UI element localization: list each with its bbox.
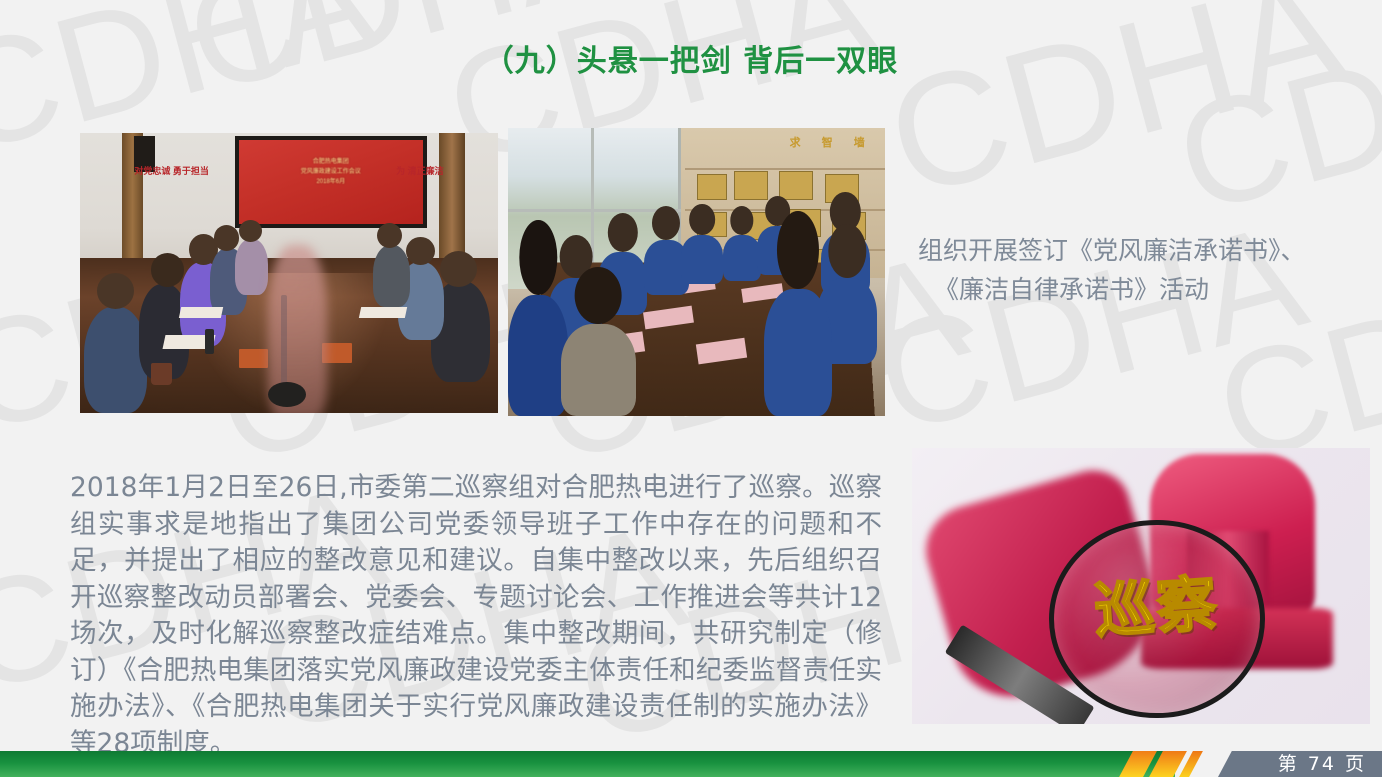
photo-meeting-room: 合肥热电集团 党风廉政建设工作会议 2018年6月 对党忠诚 勇于担当 为 清正… [80,133,498,413]
worker-head [689,204,715,234]
meeting-cup [151,363,172,385]
magnifier-lens-text: 巡察 [1053,571,1262,645]
page-title: （九）头悬一把剑 背后一双眼 [0,36,1382,80]
page-indicator: 第 74 页 [1278,749,1366,776]
footer-bar: 第 74 页 [0,751,1382,777]
worker-head [777,211,819,290]
worker-head [519,220,556,295]
attendee-head [214,225,239,250]
award-plaque [697,174,727,200]
worker-head [652,206,680,240]
attendee-head [377,223,402,248]
page-number: 74 [1308,753,1336,775]
worker-head [829,224,866,278]
meeting-room-wall-slogan: 对党忠诚 勇于担当 为 清正廉洁 [80,164,498,177]
projection-screen: 合肥热电集团 党风廉政建设工作会议 2018年6月 [235,136,427,228]
watermark-text: CDHA [860,188,1323,467]
attendee [84,307,147,413]
photo-workshop-meeting: 求 智 墙 [508,128,885,416]
attendee [235,239,268,295]
page-suffix: 页 [1345,749,1366,776]
worker-attendee [681,235,722,284]
slide-canvas: CDHACDHACDHACDHACDHACDHACDHACDHACDHACDHA… [0,0,1382,777]
wall-headline: 求 智 墙 [790,134,874,150]
right-caption: 组织开展签订《党风廉洁承诺书》、 《廉洁自律承诺书》活动 [918,232,1382,310]
page-prefix: 第 [1278,749,1299,776]
magnifier-lens: 巡察 [1049,520,1264,719]
worker-attendee [561,324,636,416]
award-plaque [779,171,813,200]
right-caption-line-2: 《廉洁自律承诺书》活动 [918,271,1382,310]
conference-microphone [205,329,213,354]
attendee-head [239,220,262,242]
right-caption-line-1: 组织开展签订《党风廉洁承诺书》、 [918,232,1382,271]
attendee [373,245,411,307]
worker-head [575,267,622,324]
attendee-head [440,251,478,287]
worker-attendee [764,289,832,416]
watermark-text: CDHA [870,0,1363,233]
worker-head [730,206,753,235]
photo-inspection-banner: 巡察 [912,448,1370,724]
award-plaque [734,171,768,200]
body-paragraph: 2018年1月2日至26日,市委第二巡察组对合肥热电进行了巡察。巡察组实事求是地… [70,470,882,763]
tissue-box [322,343,351,363]
worker-attendee [723,235,761,281]
microphone-base [268,382,306,407]
meeting-paper [179,307,223,318]
tissue-box [239,349,268,369]
meeting-paper [359,307,407,318]
worker-attendee [508,295,568,416]
shelf-line [685,168,885,170]
attendee-head [406,237,435,265]
footer-green-bar [0,751,1175,777]
